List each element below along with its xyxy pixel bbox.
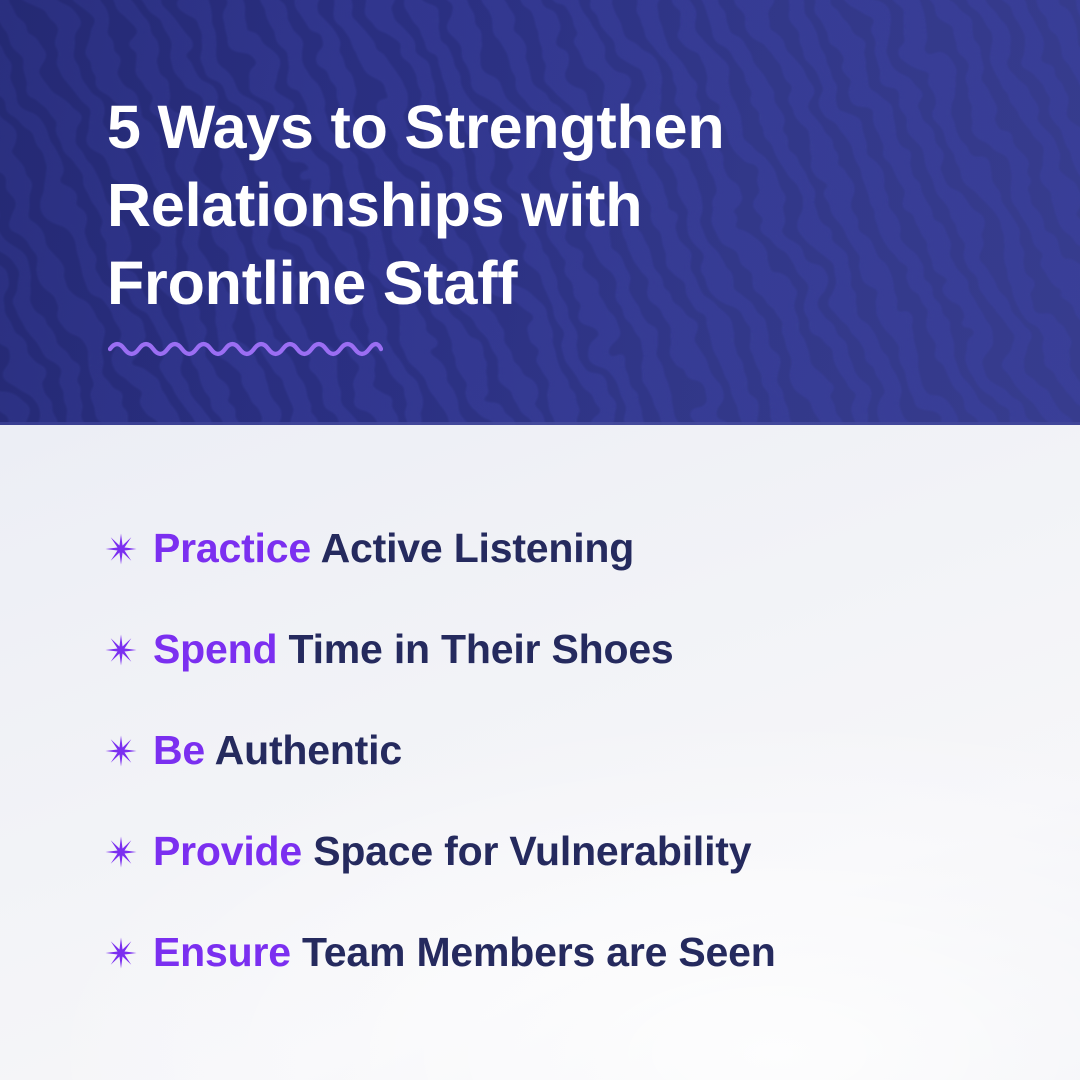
list-item-rest: Time in Their Shoes [277, 626, 673, 672]
list-item-label: Be Authentic [153, 726, 402, 774]
eight-point-star-icon [104, 633, 138, 667]
poster-canvas: 5 Ways to Strengthen Relationships with … [0, 0, 1080, 1080]
list-item: Spend Time in Their Shoes [104, 598, 1020, 699]
eight-point-star-icon [104, 936, 138, 970]
list-item-rest: Authentic [205, 727, 402, 773]
list-item-lead: Be [153, 727, 205, 773]
list-item-rest: Team Members are Seen [291, 929, 776, 975]
eight-point-star-icon [104, 734, 138, 768]
list-item-label: Spend Time in Their Shoes [153, 625, 674, 673]
list-item-label: Ensure Team Members are Seen [153, 928, 776, 976]
list-item: Ensure Team Members are Seen [104, 901, 1020, 1002]
list-item-lead: Practice [153, 525, 311, 571]
content-area: Practice Active Listening Spend Time in … [0, 425, 1080, 1080]
list-item-rest: Active Listening [311, 525, 634, 571]
list-item-label: Practice Active Listening [153, 524, 634, 572]
list-item: Provide Space for Vulnerability [104, 800, 1020, 901]
title-block: 5 Ways to Strengthen Relationships with … [107, 88, 867, 362]
list-item-label: Provide Space for Vulnerability [153, 827, 751, 875]
list-item-lead: Provide [153, 828, 302, 874]
list-item-lead: Spend [153, 626, 277, 672]
list-item-rest: Space for Vulnerability [302, 828, 751, 874]
page-title: 5 Ways to Strengthen Relationships with … [107, 88, 867, 322]
list-item-lead: Ensure [153, 929, 291, 975]
wavy-underline-icon [108, 336, 383, 362]
eight-point-star-icon [104, 835, 138, 869]
header-banner: 5 Ways to Strengthen Relationships with … [0, 0, 1080, 425]
eight-point-star-icon [104, 532, 138, 566]
tips-list: Practice Active Listening Spend Time in … [104, 497, 1020, 1002]
list-item: Practice Active Listening [104, 497, 1020, 598]
list-item: Be Authentic [104, 699, 1020, 800]
